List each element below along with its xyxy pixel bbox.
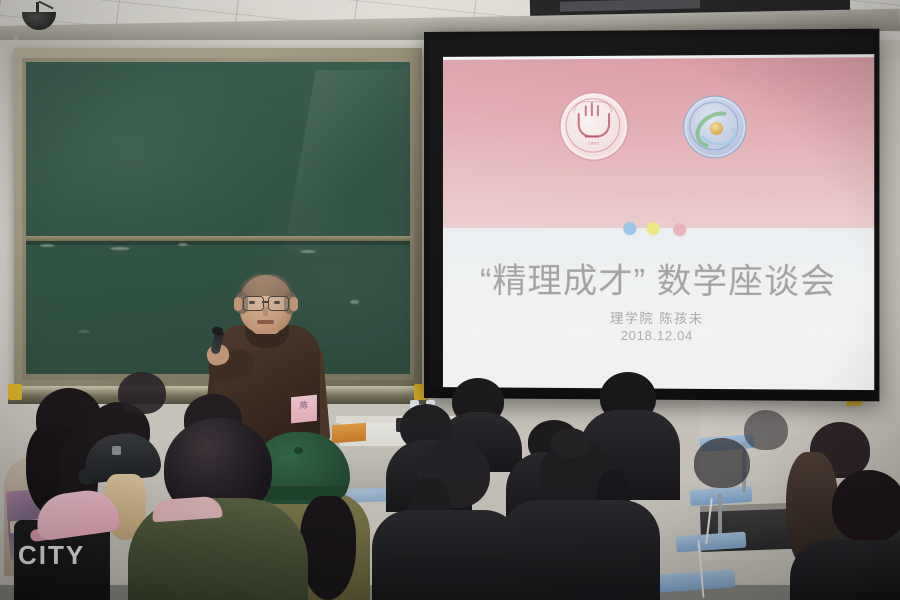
audience-head (118, 372, 166, 414)
college-of-science-logo (683, 95, 746, 158)
slide-subtitle: 理学院 陈孩未 (443, 307, 874, 328)
chalk-smudge (300, 250, 316, 253)
beret-nub (294, 447, 303, 454)
logo-flame-stroke (585, 105, 587, 116)
logo-center-orb (710, 122, 723, 135)
presenter-ear-left (234, 297, 242, 311)
slide-banner (443, 57, 874, 228)
presenter-nose (263, 306, 268, 316)
projection-screen: 1951 “精理成才” 数学座谈会 理学院 陈孩未 2018.12.04 (424, 29, 879, 402)
dot-yellow-icon (647, 222, 660, 235)
chalk-smudge (110, 247, 130, 250)
glasses-bridge (262, 301, 268, 303)
audience-torso (372, 510, 522, 600)
presenter-mouth (257, 320, 274, 324)
orange-box (332, 423, 366, 443)
glasses-lens-right (268, 296, 289, 311)
hair-bun (550, 428, 590, 458)
slide-date: 2018.12.04 (443, 327, 874, 344)
audience-torso (500, 500, 660, 600)
name-card: 陈 (291, 395, 317, 424)
logo-vessel-shape (578, 113, 610, 137)
glasses-lens-left (243, 296, 264, 311)
audience-head (744, 410, 788, 450)
logo-flame-stroke (597, 105, 599, 116)
logo-base-line (585, 135, 599, 137)
chalk-smudge (40, 244, 54, 247)
audience-torso (790, 540, 900, 600)
audience-head (694, 438, 750, 488)
chalkboard-divider-shadow (26, 241, 410, 245)
presentation-slide: 1951 “精理成才” 数学座谈会 理学院 陈孩未 2018.12.04 (443, 54, 874, 390)
screen-bezel: 1951 “精理成才” 数学座谈会 理学院 陈孩未 2018.12.04 (430, 36, 873, 390)
cap-logo-icon (112, 446, 121, 455)
chalk-smudge (78, 330, 90, 333)
logo-year-label: 1951 (561, 140, 628, 145)
chalk-smudge (178, 243, 188, 246)
lecture-hall-photo: 1951 “精理成才” 数学座谈会 理学院 陈孩未 2018.12.04 (0, 0, 900, 600)
chalk-tray-end-cap-left (8, 384, 22, 400)
long-hair (300, 496, 356, 600)
donghua-university-logo: 1951 (560, 92, 629, 161)
logo-flame-stroke (591, 102, 593, 116)
logo-text-arc (574, 101, 612, 112)
dot-blue-icon (623, 222, 636, 235)
presenter-ear-right (290, 297, 298, 311)
name-card-text: 陈 (291, 399, 317, 413)
dot-pink-icon (673, 223, 686, 236)
audience-head (832, 470, 900, 542)
city-shirt-text: CITY (18, 540, 110, 571)
slide-title: “精理成才” 数学座谈会 (443, 253, 874, 304)
chalk-smudge (350, 300, 359, 304)
